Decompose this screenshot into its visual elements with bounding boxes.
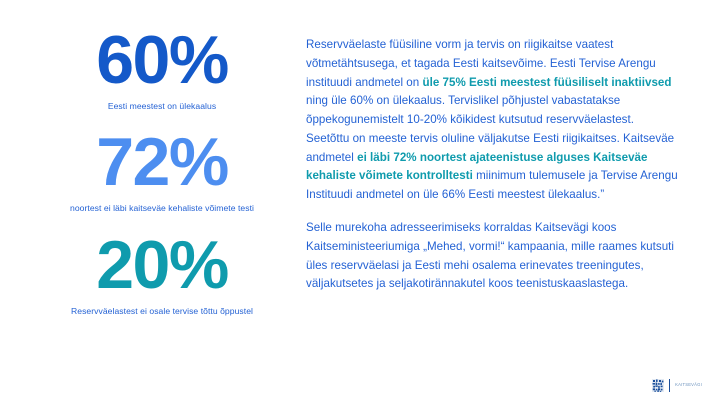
stat-caption-20: Reservväelastest ei osale tervise tõttu … bbox=[42, 305, 282, 318]
paragraph-1-highlight-1: üle 75% Eesti meestest füüsiliselt inakt… bbox=[422, 76, 671, 89]
logo-wordmark: KAITSEVÄGI bbox=[675, 383, 702, 387]
body-paragraph-2: Selle murekoha adresseerimiseks korralda… bbox=[306, 219, 680, 294]
stat-value-60: 60% bbox=[42, 28, 282, 93]
stat-value-20: 20% bbox=[42, 233, 282, 298]
logo-divider bbox=[669, 379, 670, 392]
statistics-column: 60% Eesti meestest on ülekaalus 72% noor… bbox=[42, 26, 282, 376]
stat-value-72: 72% bbox=[42, 130, 282, 195]
stat-block-72: 72% noortest ei läbi kaitseväe kehaliste… bbox=[42, 130, 282, 216]
stat-block-60: 60% Eesti meestest on ülekaalus bbox=[42, 28, 282, 114]
stat-block-20: 20% Reservväelastest ei osale tervise tõ… bbox=[42, 233, 282, 319]
body-paragraph-1: Reservväelaste füüsiline vorm ja tervis … bbox=[306, 36, 680, 205]
stat-caption-60: Eesti meestest on ülekaalus bbox=[42, 100, 282, 113]
footer-logo-lockup: KAITSEVÄGI bbox=[652, 377, 702, 393]
coat-of-arms-icon bbox=[652, 379, 664, 392]
slide-canvas: 60% Eesti meestest on ülekaalus 72% noor… bbox=[0, 0, 720, 405]
stat-caption-72: noortest ei läbi kaitseväe kehaliste või… bbox=[42, 202, 282, 215]
body-text-column: Reservväelaste füüsiline vorm ja tervis … bbox=[306, 36, 680, 294]
